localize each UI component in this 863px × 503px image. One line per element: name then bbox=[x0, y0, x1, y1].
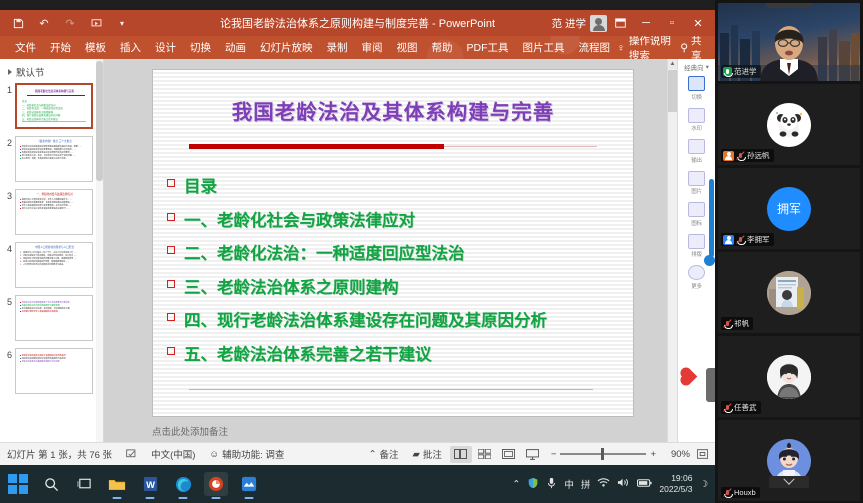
microphone-icon[interactable] bbox=[546, 477, 557, 492]
toc-item[interactable]: 目录 bbox=[167, 173, 633, 197]
thumbnail-2[interactable]: 《最新内容》重点·三个大重点 ■ 老龄化社会的到来使得法律体系建设面临新的挑战与… bbox=[15, 136, 93, 182]
thumbnail-number: 4 bbox=[2, 242, 15, 254]
ribbon-tab-animations[interactable]: 动画 bbox=[218, 37, 253, 58]
square-bullet-icon bbox=[167, 246, 175, 254]
thumbnail-item[interactable]: 2 《最新内容》重点·三个大重点 ■ 老龄化社会的到来使得法律体系建设面临新的挑… bbox=[0, 136, 103, 182]
panda-avatar-icon bbox=[771, 107, 807, 143]
participant-tile[interactable]: 祁帆 bbox=[718, 252, 860, 333]
toc-label: 三、老龄法治体系之原则建构 bbox=[184, 274, 399, 298]
ribbon-tab-image-tools[interactable]: 图片工具 bbox=[516, 37, 572, 58]
square-bullet-icon bbox=[167, 179, 175, 187]
normal-view-icon[interactable] bbox=[450, 446, 472, 463]
addin-item-export[interactable]: 输出 bbox=[678, 139, 715, 164]
status-bar-right: ⌃ 备注 ▰ 批注 − bbox=[362, 446, 715, 463]
microphone-muted-icon bbox=[723, 403, 732, 412]
windows-taskbar: W ⌃ 中 拼 bbox=[0, 465, 715, 503]
ribbon-tabs: 文件 开始 模板 插入 设计 切换 动画 幻灯片放映 录制 审阅 视图 帮助 P… bbox=[0, 36, 715, 59]
participant-avatar bbox=[767, 271, 811, 315]
watermark-icon bbox=[688, 108, 705, 123]
security-icon[interactable] bbox=[527, 477, 539, 492]
save-icon[interactable] bbox=[6, 13, 30, 33]
addin-rail-handle[interactable] bbox=[704, 255, 715, 266]
file-explorer-icon[interactable] bbox=[105, 472, 129, 496]
thumbnail-item[interactable]: 3 一、老龄化社会与政策法律应对 ■ 我国已进入中度老龄化社会，老年人口规模持续… bbox=[0, 189, 103, 235]
status-bar: 幻灯片 第 1 张，共 76 张 中文(中国) ☺ 辅助功能: 调查 ⌃ 备注 … bbox=[0, 442, 715, 465]
share-button[interactable]: ⚲ 共享 bbox=[680, 36, 707, 59]
thumbnail-number: 6 bbox=[2, 348, 15, 360]
slide-counter[interactable]: 幻灯片 第 1 张，共 76 张 bbox=[0, 447, 119, 461]
addin-rail-title: 经典向 bbox=[684, 62, 704, 72]
thumbnail-6[interactable]: ■ 老龄化法治的基本内涵在于适度回应社会结构变迁 ■ 回应型法治强调法律对社会需… bbox=[15, 348, 93, 394]
bottom-divider bbox=[189, 389, 593, 390]
microphone-muted-icon bbox=[736, 151, 745, 160]
chevron-down-icon[interactable]: ▾ bbox=[706, 63, 709, 71]
ribbon-tab-pdf-tools[interactable]: PDF工具 bbox=[460, 37, 516, 58]
thumbnail-item[interactable]: 5 ■ 老龄化社会对法律制度提出了全方位的新要求与新任务 ■ 政策法律应对应当坚… bbox=[0, 295, 103, 341]
clock-time: 19:06 bbox=[659, 473, 692, 484]
section-label: 默认节 bbox=[16, 65, 45, 79]
tell-me-search[interactable]: ♀ 操作说明搜索 bbox=[617, 36, 680, 59]
slide-thumbnail-pane[interactable]: 默认节 1 我国老龄法治及其体系构建与完善 目录一、老龄化社会与政策法律应对二、… bbox=[0, 59, 104, 442]
title-bar-right: 范 进学 ─ ▫ ✕ bbox=[552, 10, 715, 36]
current-slide[interactable]: 我国老龄法治及其体系构建与完善 目录 一、老龄化社会与政策法律应对 bbox=[152, 69, 634, 417]
start-slideshow-icon[interactable] bbox=[84, 13, 108, 33]
thumbnail-5[interactable]: ■ 老龄化社会对法律制度提出了全方位的新要求与新任务 ■ 政策法律应对应当坚持系… bbox=[15, 295, 93, 341]
addin-item-label: 图片 bbox=[691, 187, 702, 195]
collapse-rail-handle[interactable] bbox=[706, 368, 715, 402]
participant-name: 孙远帆 bbox=[747, 150, 770, 161]
thumbnail-number: 1 bbox=[2, 83, 15, 95]
ribbon-tab-template[interactable]: 模板 bbox=[78, 37, 113, 58]
thumbnail-3[interactable]: 一、老龄化社会与政策法律应对 ■ 我国已进入中度老龄化社会，老年人口规模持续扩大… bbox=[15, 189, 93, 235]
wifi-icon[interactable] bbox=[597, 477, 610, 491]
participant-nameplate: 祁帆 bbox=[721, 317, 753, 330]
system-tray: ⌃ 中 拼 19:06 2022/5/3 ☽ bbox=[512, 473, 715, 495]
participant-tile[interactable]: Houxb bbox=[718, 420, 860, 501]
favorite-heart-icon[interactable] bbox=[681, 367, 698, 384]
microphone-muted-icon bbox=[723, 488, 732, 497]
participant-tile[interactable]: 任善武 bbox=[718, 336, 860, 417]
addin-item-label: 排版 bbox=[691, 250, 702, 258]
ime-chinese-icon[interactable]: 中 bbox=[564, 477, 574, 491]
toc-label: 五、老龄法治体系完善之若干建议 bbox=[184, 341, 432, 365]
toc-label: 四、现行老龄法治体系建设存在问题及其原因分析 bbox=[184, 307, 547, 331]
microphone-muted-icon bbox=[736, 235, 745, 244]
customize-quick-access-icon[interactable]: ▾ bbox=[110, 13, 134, 33]
tile-drag-handle[interactable] bbox=[766, 3, 812, 8]
thumbnail-number: 2 bbox=[2, 136, 15, 148]
participant-avatar: 拥军 bbox=[767, 187, 811, 231]
host-badge-icon bbox=[723, 151, 734, 161]
ribbon-tab-home[interactable]: 开始 bbox=[43, 37, 78, 58]
thumbnail-number: 3 bbox=[2, 189, 15, 201]
share-label: 共享 bbox=[691, 36, 707, 59]
thumbnail-scrollbar-thumb[interactable] bbox=[96, 61, 103, 181]
ribbon-tab-flowchart[interactable]: 流程图 bbox=[572, 37, 618, 58]
ribbon-tab-view[interactable]: 视图 bbox=[390, 37, 425, 58]
accessibility-label: 辅助功能: 调查 bbox=[222, 447, 284, 461]
avatar[interactable] bbox=[590, 15, 607, 32]
title-bar: ↶ ↷ ▾ 论我国老龄法治体系之原则构建与制度完善 - PowerPoint 范… bbox=[0, 10, 715, 36]
export-icon bbox=[688, 139, 705, 154]
toc-item[interactable]: 一、老龄化社会与政策法律应对 bbox=[167, 207, 633, 231]
toc-item[interactable]: 三、老龄法治体系之原则建构 bbox=[167, 274, 633, 298]
share-icon: ⚲ bbox=[680, 42, 688, 54]
taskbar-apps: W bbox=[6, 472, 261, 496]
ribbon-tab-transitions[interactable]: 切换 bbox=[183, 37, 218, 58]
host-badge-icon bbox=[723, 235, 734, 245]
addin-item-convert[interactable]: 切换 bbox=[678, 76, 715, 101]
slide-sorter-icon[interactable] bbox=[474, 446, 496, 463]
slideshow-icon[interactable] bbox=[522, 446, 544, 463]
expand-participants-icon[interactable] bbox=[769, 476, 809, 488]
participant-video-person bbox=[754, 19, 824, 81]
comments-button[interactable]: ▰ 批注 bbox=[406, 447, 449, 461]
ribbon-tab-review[interactable]: 审阅 bbox=[355, 37, 390, 58]
ribbon-tab-insert[interactable]: 插入 bbox=[113, 37, 148, 58]
notes-label: 备注 bbox=[380, 447, 399, 461]
addin-item-label: 切换 bbox=[691, 93, 702, 101]
task-view-icon[interactable] bbox=[72, 472, 96, 496]
ribbon-tab-design[interactable]: 设计 bbox=[148, 37, 183, 58]
participant-nameplate: 孙远帆 bbox=[721, 149, 774, 162]
more-icon bbox=[688, 265, 705, 280]
ribbon-tab-slideshow[interactable]: 幻灯片放映 bbox=[253, 37, 320, 58]
zoom-slider[interactable]: − + bbox=[545, 449, 662, 460]
ribbon-display-options-icon[interactable] bbox=[607, 10, 633, 36]
avatar-initial: 拥军 bbox=[777, 200, 801, 217]
maximize-icon[interactable]: ▫ bbox=[659, 10, 685, 36]
thumbnail-title: 一、老龄化社会与政策法律应对 bbox=[21, 193, 88, 196]
addin-rail-header[interactable]: 经典向 ▾ bbox=[684, 62, 709, 72]
reading-view-icon[interactable] bbox=[498, 446, 520, 463]
ime-pinyin-icon[interactable]: 拼 bbox=[581, 477, 591, 491]
icon-library-icon bbox=[688, 202, 705, 217]
addin-rail: 经典向 ▾ 切换 水印 输出 图片 bbox=[677, 59, 715, 442]
section-header[interactable]: 默认节 bbox=[0, 63, 103, 83]
powerpoint-icon[interactable] bbox=[204, 472, 228, 496]
zoom-level[interactable]: 90% bbox=[662, 449, 690, 460]
powerpoint-window: ↶ ↷ ▾ 论我国老龄法治体系之原则构建与制度完善 - PowerPoint 范… bbox=[0, 10, 715, 465]
thumbnail-title: 我国老龄法治及其体系构建与完善 bbox=[22, 90, 87, 93]
moon-icon[interactable]: ☽ bbox=[699, 479, 708, 490]
thumbnail-scrollbar[interactable] bbox=[96, 59, 103, 442]
thumbnail-number: 5 bbox=[2, 295, 15, 307]
notes-placeholder[interactable]: 点击此处添加备注 bbox=[152, 424, 228, 438]
image-icon bbox=[688, 171, 705, 186]
ribbon-right: ⚲ 共享 bbox=[680, 36, 715, 59]
accessibility-status[interactable]: ☺ 辅助功能: 调查 bbox=[202, 447, 291, 461]
ribbon-tab-file[interactable]: 文件 bbox=[8, 37, 43, 58]
thumbnail-1[interactable]: 我国老龄法治及其体系构建与完善 目录一、老龄化社会与政策法律应对二、老龄化法治：… bbox=[15, 83, 93, 129]
thumbnail-item[interactable]: 6 ■ 老龄化法治的基本内涵在于适度回应社会结构变迁 ■ 回应型法治强调法律对社… bbox=[0, 348, 103, 394]
participant-avatar bbox=[767, 355, 811, 399]
thumbnail-title: 《最新内容》重点·三个大重点 bbox=[21, 140, 88, 143]
notes-button[interactable]: ⌃ 备注 bbox=[362, 447, 406, 461]
participant-tile[interactable]: 孙远帆 bbox=[718, 84, 860, 165]
redo-icon[interactable]: ↷ bbox=[58, 13, 82, 33]
participant-name: 李拥军 bbox=[747, 234, 770, 245]
participant-nameplate: Houxb bbox=[721, 487, 760, 498]
search-icon[interactable] bbox=[39, 472, 63, 496]
canvas-scrollbar[interactable]: ▲ bbox=[667, 59, 677, 442]
toc-label: 一、老龄化社会与政策法律应对 bbox=[184, 207, 415, 231]
meeting-participant-rail: 范进学 bbox=[715, 0, 863, 503]
close-icon[interactable]: ✕ bbox=[685, 10, 711, 36]
addin-item-label: 输出 bbox=[691, 156, 702, 164]
participant-name: 祁帆 bbox=[734, 318, 749, 329]
addin-item-label: 图标 bbox=[691, 219, 702, 227]
participant-tile[interactable]: 范进学 bbox=[718, 3, 860, 81]
work-area: 默认节 1 我国老龄法治及其体系构建与完善 目录一、老龄化社会与政策法律应对二、… bbox=[0, 59, 715, 442]
chevron-right-icon bbox=[8, 69, 12, 75]
square-bullet-icon bbox=[167, 213, 175, 221]
zoom-in-icon[interactable]: + bbox=[650, 449, 656, 460]
lightbulb-icon: ♀ bbox=[617, 42, 625, 54]
clock-date: 2022/5/3 bbox=[659, 484, 692, 495]
zoom-knob[interactable] bbox=[601, 448, 604, 460]
square-bullet-icon bbox=[167, 313, 175, 321]
participant-name: 范进学 bbox=[734, 66, 757, 77]
toc-item[interactable]: 四、现行老龄法治体系建设存在问题及其原因分析 bbox=[167, 307, 633, 331]
meeting-app-icon[interactable] bbox=[237, 472, 261, 496]
addin-item-label: 更多 bbox=[691, 282, 702, 290]
square-bullet-icon bbox=[167, 347, 175, 355]
slide-counter-label: 幻灯片 第 1 张，共 76 张 bbox=[7, 447, 112, 461]
microphone-on-icon bbox=[723, 67, 732, 76]
scroll-up-icon[interactable]: ▲ bbox=[668, 59, 677, 69]
comments-label: 批注 bbox=[423, 447, 442, 461]
slide-canvas-area: 我国老龄法治及其体系构建与完善 目录 一、老龄化社会与政策法律应对 bbox=[104, 59, 677, 442]
microphone-muted-icon bbox=[723, 319, 732, 328]
addin-rail-scrollbar[interactable] bbox=[709, 179, 714, 257]
portrait-avatar-icon bbox=[767, 355, 811, 399]
thumbnail-title: 中国人口老龄化的现状与人口形式 bbox=[21, 246, 88, 249]
participant-nameplate: 范进学 bbox=[721, 65, 761, 78]
battery-icon[interactable] bbox=[637, 478, 652, 491]
addin-item-more[interactable]: 更多 bbox=[678, 265, 715, 290]
minimize-icon[interactable]: ─ bbox=[633, 10, 659, 36]
comment-icon: ▰ bbox=[413, 449, 420, 460]
show-hidden-icons-icon[interactable]: ⌃ bbox=[512, 479, 520, 490]
toc-label: 二、老龄化法治：一种适度回应型法治 bbox=[184, 240, 465, 264]
zoom-track[interactable] bbox=[560, 453, 646, 455]
undo-icon[interactable]: ↶ bbox=[32, 13, 56, 33]
participant-nameplate: 李拥军 bbox=[721, 233, 774, 246]
toc-item[interactable]: 二、老龄化法治：一种适度回应型法治 bbox=[167, 240, 633, 264]
photo-avatar-icon bbox=[767, 271, 811, 315]
participant-tile[interactable]: 拥军 李拥军 bbox=[718, 168, 860, 249]
participant-name: 任善武 bbox=[734, 402, 757, 413]
tell-me-label: 操作说明搜索 bbox=[629, 36, 680, 59]
addin-item-label: 水印 bbox=[691, 124, 702, 132]
slide-body[interactable]: 目录 一、老龄化社会与政策法律应对 二、老龄化法治：一种适度回应型法治 bbox=[153, 173, 633, 365]
layout-icon bbox=[688, 234, 705, 249]
taskbar-clock[interactable]: 19:06 2022/5/3 bbox=[659, 473, 692, 495]
thumbnail-item[interactable]: 4 中国人口老龄化的现状与人口形式 1、我国老年人口已超过二亿六千万，占总人口比… bbox=[0, 242, 103, 288]
fit-to-window-icon[interactable] bbox=[690, 449, 715, 459]
slide-title[interactable]: 我国老龄法治及其体系构建与完善 bbox=[153, 95, 633, 125]
spellcheck-icon[interactable] bbox=[119, 449, 144, 459]
volume-icon[interactable] bbox=[617, 477, 630, 491]
notes-icon: ⌃ bbox=[369, 449, 377, 460]
title-underline bbox=[189, 146, 597, 147]
thumbnail-item[interactable]: 1 我国老龄法治及其体系构建与完善 目录一、老龄化社会与政策法律应对二、老龄化法… bbox=[0, 83, 103, 129]
user-name: 范 进学 bbox=[552, 16, 586, 31]
participant-nameplate: 任善武 bbox=[721, 401, 761, 414]
square-bullet-icon bbox=[167, 280, 175, 288]
addin-item-watermark[interactable]: 水印 bbox=[678, 108, 715, 133]
accessibility-icon: ☺ bbox=[209, 449, 219, 460]
ribbon-tab-help[interactable]: 帮助 bbox=[425, 37, 460, 58]
participant-avatar bbox=[767, 103, 811, 147]
start-icon[interactable] bbox=[6, 472, 30, 496]
svg-text:W: W bbox=[146, 480, 155, 490]
screen: ↶ ↷ ▾ 论我国老龄法治体系之原则构建与制度完善 - PowerPoint 范… bbox=[0, 0, 863, 503]
thumbnail-4[interactable]: 中国人口老龄化的现状与人口形式 1、我国老年人口已超过二亿六千万，占总人口比重持… bbox=[15, 242, 93, 288]
ribbon-tab-record[interactable]: 录制 bbox=[320, 37, 355, 58]
convert-icon bbox=[688, 76, 705, 91]
language-indicator[interactable]: 中文(中国) bbox=[144, 447, 202, 461]
participant-name: Houxb bbox=[734, 488, 756, 497]
zoom-out-icon[interactable]: − bbox=[551, 449, 557, 460]
quick-access-toolbar: ↶ ↷ ▾ bbox=[0, 13, 134, 33]
edge-icon[interactable] bbox=[171, 472, 195, 496]
toc-item[interactable]: 五、老龄法治体系完善之若干建议 bbox=[167, 341, 633, 365]
toc-label: 目录 bbox=[184, 173, 217, 197]
word-icon[interactable]: W bbox=[138, 472, 162, 496]
